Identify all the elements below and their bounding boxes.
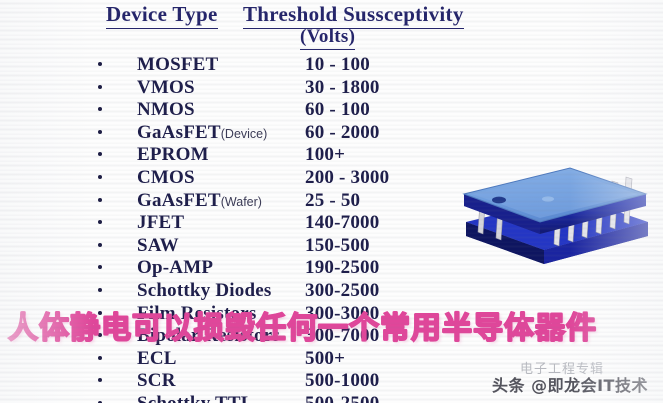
table-row: SCR500-1000	[0, 370, 430, 393]
device-type-cell: EPROM	[137, 144, 209, 166]
device-type-cell: SAW	[137, 235, 179, 257]
table-row: EPROM100+	[0, 144, 430, 167]
chinese-caption-overlay: 人体静电可以损毁任何一个常用半导体器件	[8, 303, 656, 347]
threshold-value-cell: 60 - 2000	[305, 122, 380, 144]
chip-svg	[452, 150, 657, 270]
threshold-value-cell: 300-2500	[305, 280, 379, 302]
bullet-icon	[98, 62, 102, 66]
dip-ic-chip-illustration	[452, 150, 657, 270]
table-row: NMOS60 - 100	[0, 99, 430, 122]
device-type-cell: Op-AMP	[137, 257, 213, 279]
threshold-value-cell: 140-7000	[305, 212, 379, 234]
bullet-icon	[98, 175, 102, 179]
device-type-cell: SCR	[137, 370, 176, 392]
device-type-cell: CMOS	[137, 167, 195, 189]
table-row: ECL500+	[0, 348, 430, 371]
bullet-icon	[98, 356, 102, 360]
bullet-icon	[98, 130, 102, 134]
watermark-toutiao-handle: 头条 @即龙会IT技术	[492, 372, 648, 396]
table-row: Schottky Diodes300-2500	[0, 280, 430, 303]
table-row: CMOS200 - 3000	[0, 167, 430, 190]
threshold-value-cell: 25 - 50	[305, 190, 360, 212]
device-type-cell: ECL	[137, 348, 177, 370]
bullet-icon	[98, 220, 102, 224]
table-row: Op-AMP190-2500	[0, 257, 430, 280]
device-type-cell: Schottky Diodes	[137, 280, 271, 302]
table-row: GaAsFET(Device)60 - 2000	[0, 122, 430, 145]
table-row: JFET140-7000	[0, 212, 430, 235]
bullet-icon	[98, 265, 102, 269]
threshold-value-cell: 30 - 1800	[305, 77, 380, 99]
bullet-icon	[98, 198, 102, 202]
chip-pin1-notch	[492, 197, 506, 204]
device-type-cell: GaAsFET(Device)	[137, 122, 267, 144]
table-row: MOSFET10 - 100	[0, 54, 430, 77]
threshold-value-cell: 500-1000	[305, 370, 379, 392]
device-type-qualifier: (Device)	[221, 127, 268, 141]
device-type-cell: GaAsFET(Wafer)	[137, 190, 262, 212]
threshold-value-cell: 60 - 100	[305, 99, 370, 121]
device-type-cell: JFET	[137, 212, 184, 234]
screenshot-root: Device Type Threshold Sussceptivity (Vol…	[0, 0, 663, 403]
threshold-value-cell: 200 - 3000	[305, 167, 389, 189]
threshold-value-cell: 500-2500	[305, 393, 379, 403]
threshold-value-cell: 190-2500	[305, 257, 379, 279]
column-header-threshold: Threshold Sussceptivity	[243, 2, 464, 29]
table-row: SAW150-500	[0, 235, 430, 258]
device-type-cell: MOSFET	[137, 54, 218, 76]
threshold-value-cell: 10 - 100	[305, 54, 370, 76]
threshold-value-cell: 100+	[305, 144, 345, 166]
table-row: GaAsFET(Wafer)25 - 50	[0, 190, 430, 213]
column-header-device-type: Device Type	[106, 2, 218, 29]
device-threshold-table: MOSFET10 - 100VMOS30 - 1800NMOS60 - 100G…	[0, 54, 430, 403]
bullet-icon	[98, 288, 102, 292]
table-row: VMOS30 - 1800	[0, 77, 430, 100]
device-type-cell: NMOS	[137, 99, 195, 121]
bullet-icon	[98, 378, 102, 382]
device-type-qualifier: (Wafer)	[221, 195, 262, 209]
threshold-value-cell: 150-500	[305, 235, 370, 257]
device-type-cell: Schottky TTL	[137, 393, 254, 403]
bullet-icon	[98, 243, 102, 247]
bullet-icon	[98, 152, 102, 156]
table-row: Schottky TTL500-2500	[0, 393, 430, 403]
device-type-cell: VMOS	[137, 77, 195, 99]
bullet-icon	[98, 107, 102, 111]
column-header-threshold-unit: (Volts)	[300, 26, 355, 50]
threshold-value-cell: 500+	[305, 348, 345, 370]
bullet-icon	[98, 85, 102, 89]
